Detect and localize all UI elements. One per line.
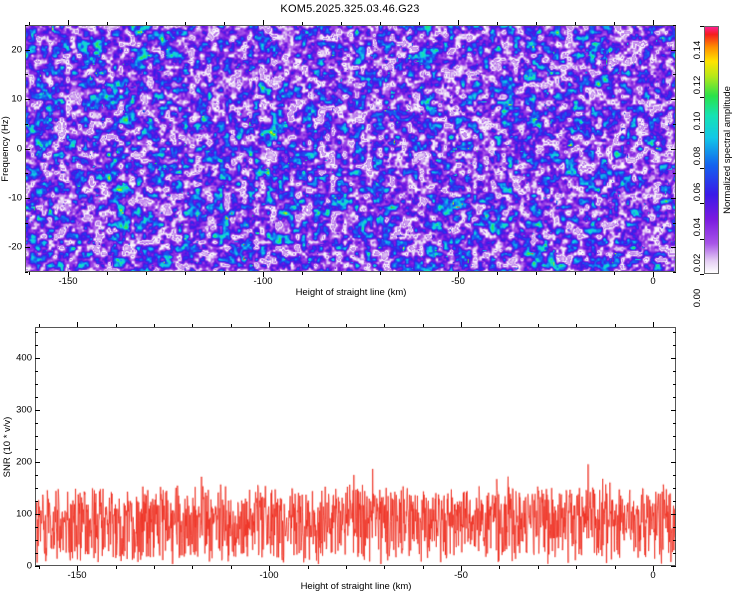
y-tick-label: 20 (0, 45, 22, 56)
y-tick-minor (673, 332, 676, 333)
x-tick-minor (614, 272, 615, 275)
spectrogram-plot-area (25, 25, 676, 272)
x-tick-minor (192, 324, 193, 327)
x-tick-minor (231, 324, 232, 327)
y-tick-major (671, 247, 676, 248)
y-tick-major (35, 514, 40, 515)
y-tick-minor (35, 553, 38, 554)
y-tick-minor (35, 345, 38, 346)
y-tick-minor (673, 436, 676, 437)
x-tick-major (458, 20, 459, 25)
y-tick-major (671, 514, 676, 515)
y-tick-minor (673, 475, 676, 476)
y-tick-minor (35, 371, 38, 372)
x-tick-major (461, 322, 462, 327)
x-tick-minor (497, 22, 498, 25)
y-tick-minor (35, 488, 38, 489)
x-tick-minor (146, 22, 147, 25)
y-tick-minor (35, 501, 38, 502)
y-tick-minor (673, 272, 676, 273)
x-tick-major (77, 322, 78, 327)
snr-plot-area (35, 327, 676, 566)
y-tick-minor (673, 173, 676, 174)
colorbar-tick (700, 274, 704, 275)
y-tick-label: 400 (2, 353, 32, 364)
x-tick-minor (575, 22, 576, 25)
x-tick-minor (615, 566, 616, 569)
y-tick-major (671, 566, 676, 567)
x-tick-label: 0 (650, 276, 655, 287)
spectrogram-y-axis-label: Frequency (Hz) (0, 116, 11, 181)
x-tick-minor (302, 22, 303, 25)
x-tick-minor (308, 566, 309, 569)
y-tick-label: 0 (2, 561, 32, 572)
x-tick-label: -50 (454, 570, 468, 581)
y-tick-minor (35, 423, 38, 424)
y-tick-major (25, 198, 30, 199)
x-tick-minor (380, 22, 381, 25)
y-tick-minor (35, 475, 38, 476)
y-tick-major (35, 462, 40, 463)
colorbar-gradient (704, 26, 719, 274)
x-tick-minor (154, 566, 155, 569)
y-tick-label: 300 (2, 405, 32, 416)
x-tick-minor (419, 272, 420, 275)
x-tick-minor (497, 272, 498, 275)
colorbar-tick (700, 203, 704, 204)
x-tick-minor (29, 22, 30, 25)
spectrogram-image (26, 26, 675, 271)
x-tick-minor (384, 566, 385, 569)
y-tick-minor (673, 371, 676, 372)
y-tick-minor (25, 124, 28, 125)
y-tick-major (671, 198, 676, 199)
x-tick-minor (192, 566, 193, 569)
x-tick-minor (499, 324, 500, 327)
snr-x-axis-label: Height of straight line (km) (301, 581, 412, 592)
y-tick-major (25, 50, 30, 51)
x-tick-minor (224, 272, 225, 275)
y-tick-label: 100 (2, 509, 32, 520)
x-tick-major (653, 20, 654, 25)
y-tick-minor (25, 25, 28, 26)
x-tick-major (68, 20, 69, 25)
x-tick-minor (538, 324, 539, 327)
y-tick-minor (673, 223, 676, 224)
x-tick-minor (346, 566, 347, 569)
x-tick-major (263, 20, 264, 25)
colorbar-tick (700, 26, 704, 27)
colorbar-tick-label: 0.00 (692, 289, 703, 308)
x-tick-minor (576, 324, 577, 327)
x-tick-minor (538, 566, 539, 569)
y-tick-label: -10 (0, 193, 22, 204)
colorbar-tick-label: 0.08 (692, 147, 703, 166)
y-tick-major (671, 358, 676, 359)
y-tick-minor (673, 25, 676, 26)
y-tick-major (25, 247, 30, 248)
colorbar-tick (700, 61, 704, 62)
x-tick-label: -100 (253, 276, 272, 287)
x-tick-minor (116, 566, 117, 569)
colorbar-tick (700, 239, 704, 240)
y-tick-major (671, 50, 676, 51)
y-tick-major (671, 99, 676, 100)
x-tick-minor (346, 324, 347, 327)
x-tick-minor (116, 324, 117, 327)
y-tick-major (35, 566, 40, 567)
y-tick-minor (35, 397, 38, 398)
x-tick-minor (29, 272, 30, 275)
x-tick-minor (499, 566, 500, 569)
y-tick-label: -20 (0, 242, 22, 253)
y-tick-major (35, 410, 40, 411)
x-tick-minor (107, 272, 108, 275)
x-tick-minor (380, 272, 381, 275)
snr-trace-line (36, 328, 675, 565)
x-tick-major (653, 322, 654, 327)
x-tick-minor (536, 22, 537, 25)
y-tick-minor (673, 501, 676, 502)
y-tick-minor (673, 124, 676, 125)
x-tick-minor (107, 22, 108, 25)
x-tick-minor (308, 324, 309, 327)
y-tick-minor (35, 384, 38, 385)
x-tick-label: 0 (650, 570, 655, 581)
y-tick-minor (35, 540, 38, 541)
y-tick-minor (673, 384, 676, 385)
x-tick-minor (224, 22, 225, 25)
y-tick-major (35, 358, 40, 359)
colorbar (704, 26, 719, 274)
x-tick-minor (615, 324, 616, 327)
x-tick-label: -50 (451, 276, 465, 287)
x-tick-minor (185, 272, 186, 275)
colorbar-tick-label: 0.04 (692, 218, 703, 237)
y-tick-minor (25, 223, 28, 224)
x-tick-major (269, 322, 270, 327)
y-tick-minor (35, 527, 38, 528)
snr-y-axis-label: SNR (10 * v/v) (2, 417, 13, 478)
y-tick-minor (25, 74, 28, 75)
y-tick-minor (35, 332, 38, 333)
y-tick-minor (25, 272, 28, 273)
y-tick-minor (35, 449, 38, 450)
y-tick-minor (673, 397, 676, 398)
y-tick-major (671, 410, 676, 411)
y-tick-minor (673, 345, 676, 346)
y-tick-minor (673, 527, 676, 528)
x-tick-minor (185, 22, 186, 25)
colorbar-tick-label: 0.12 (692, 76, 703, 95)
colorbar-tick-label: 0.14 (692, 41, 703, 60)
colorbar-tick (700, 132, 704, 133)
y-tick-minor (673, 488, 676, 489)
colorbar-tick (700, 168, 704, 169)
x-tick-minor (154, 324, 155, 327)
x-tick-minor (614, 22, 615, 25)
x-tick-minor (341, 22, 342, 25)
colorbar-label: Normalized spectral amplitude (722, 86, 733, 214)
x-tick-minor (231, 566, 232, 569)
figure-root: KOM5.2025.325.03.46.G23 -150-100-500-20-… (0, 0, 750, 600)
x-tick-minor (146, 272, 147, 275)
y-tick-minor (673, 449, 676, 450)
y-tick-major (671, 462, 676, 463)
x-tick-label: -150 (58, 276, 77, 287)
colorbar-tick-label: 0.02 (692, 254, 703, 273)
colorbar-tick-label: 0.10 (692, 112, 703, 131)
x-tick-minor (423, 324, 424, 327)
x-tick-label: -100 (259, 570, 278, 581)
x-tick-minor (423, 566, 424, 569)
y-tick-minor (25, 173, 28, 174)
x-tick-minor (341, 272, 342, 275)
y-tick-minor (673, 423, 676, 424)
y-tick-minor (35, 436, 38, 437)
y-tick-major (671, 149, 676, 150)
x-tick-minor (536, 272, 537, 275)
spectrogram-x-axis-label: Height of straight line (km) (296, 287, 407, 298)
colorbar-tick (700, 97, 704, 98)
y-tick-major (25, 99, 30, 100)
y-tick-minor (673, 74, 676, 75)
x-tick-minor (302, 272, 303, 275)
y-tick-minor (673, 540, 676, 541)
x-tick-label: -150 (67, 570, 86, 581)
x-tick-minor (419, 22, 420, 25)
x-tick-minor (384, 324, 385, 327)
y-tick-major (25, 149, 30, 150)
y-tick-label: 10 (0, 94, 22, 105)
x-tick-minor (575, 272, 576, 275)
colorbar-tick-label: 0.06 (692, 183, 703, 202)
x-tick-minor (39, 324, 40, 327)
figure-title: KOM5.2025.325.03.46.G23 (0, 3, 700, 15)
y-tick-minor (673, 553, 676, 554)
x-tick-minor (576, 566, 577, 569)
